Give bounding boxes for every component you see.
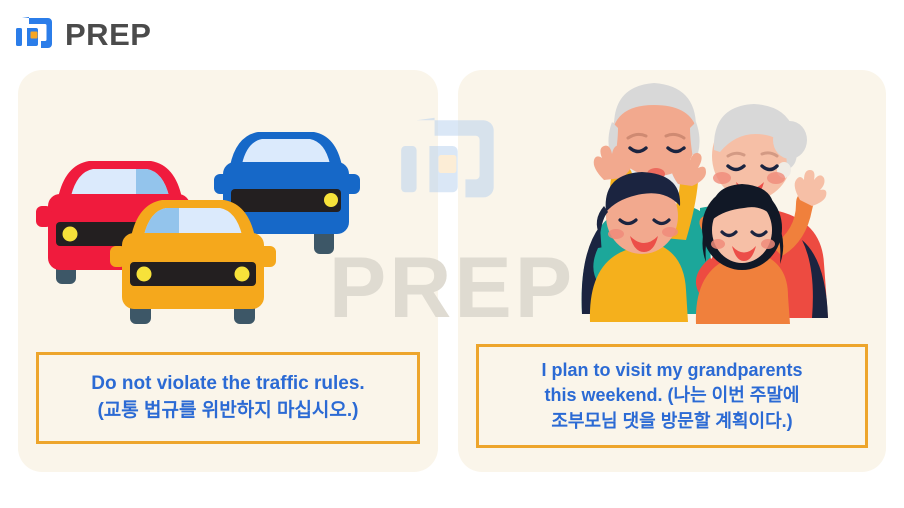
caption-box-grandparents: I plan to visit my grandparents this wee… <box>476 344 868 448</box>
card-grandparents[interactable]: I plan to visit my grandparents this wee… <box>458 70 886 472</box>
caption-line: 조부모님 댓을 방문할 계획이다.) <box>541 409 802 435</box>
caption-line: I plan to visit my grandparents <box>541 358 802 384</box>
caption-line: this weekend. (나는 이번 주말에 <box>541 383 802 409</box>
three-cars-illustration <box>18 70 438 338</box>
caption-text-grandparents: I plan to visit my grandparents this wee… <box>541 358 802 435</box>
caption-line: (교통 법규를 위반하지 마십시오.) <box>91 398 364 425</box>
caption-line: Do not violate the traffic rules. <box>91 371 364 398</box>
cards-container: Do not violate the traffic rules. (교통 법규… <box>0 0 904 508</box>
card-traffic-rules[interactable]: Do not violate the traffic rules. (교통 법규… <box>18 70 438 472</box>
family-grandparents-illustration <box>458 70 886 338</box>
caption-text-traffic-rules: Do not violate the traffic rules. (교통 법규… <box>91 371 364 425</box>
caption-box-traffic-rules: Do not violate the traffic rules. (교통 법규… <box>36 352 420 444</box>
